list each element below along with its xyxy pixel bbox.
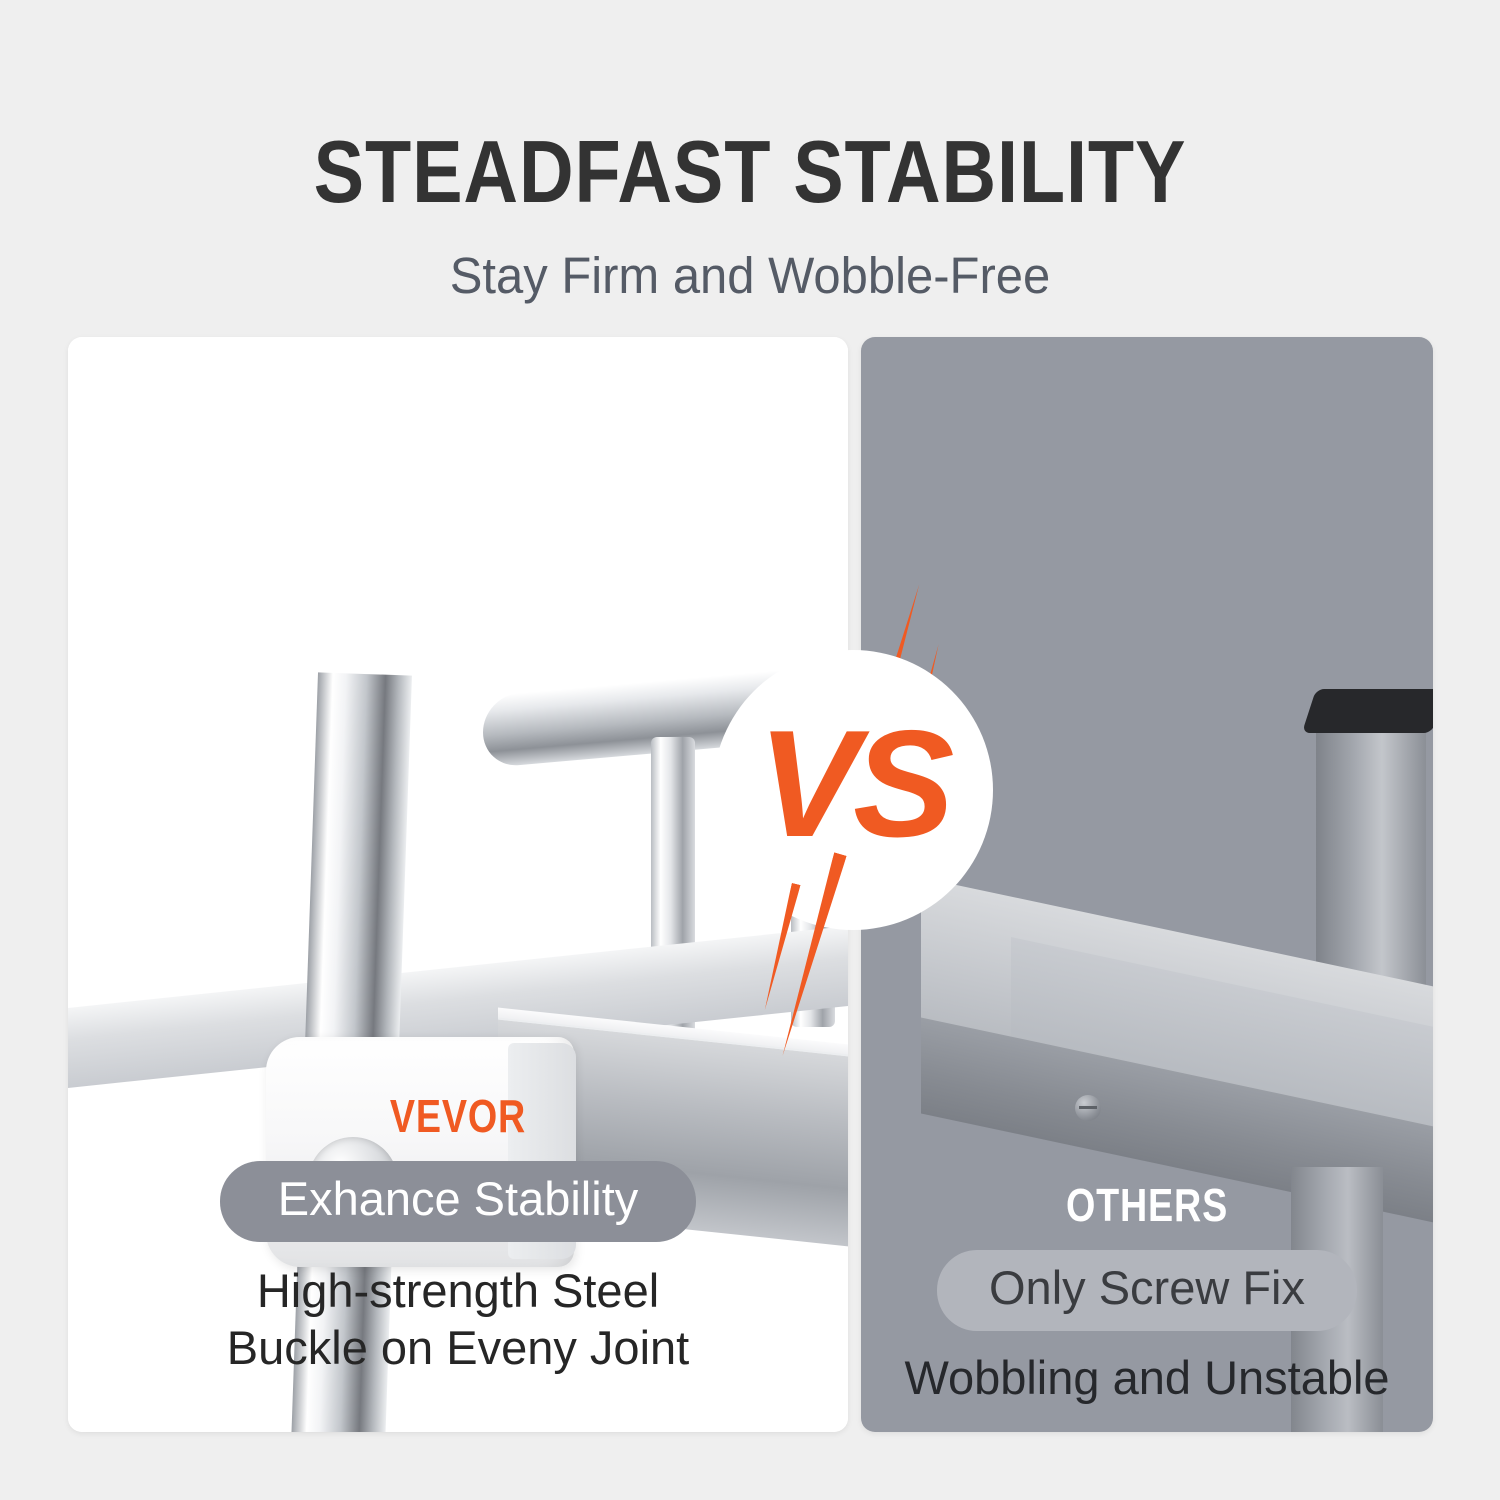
others-description-line-1: Wobbling and Unstable <box>861 1349 1433 1406</box>
others-description: Wobbling and Unstable <box>861 1349 1433 1406</box>
vevor-description-line-1: High-strength Steel <box>68 1262 848 1319</box>
vevor-feature-pill: Exhance Stability <box>220 1161 697 1242</box>
vevor-caption-block: VEVOR Exhance Stability High-strength St… <box>68 1093 848 1376</box>
others-caption-block: OTHERS Only Screw Fix Wobbling and Unsta… <box>861 1182 1433 1406</box>
black-leg-cap <box>1302 689 1433 733</box>
screw-icon <box>1075 1095 1101 1121</box>
vs-badge: VS <box>713 650 993 930</box>
page-subtitle: Stay Firm and Wobble-Free <box>30 248 1470 304</box>
others-title: OTHERS <box>912 1182 1381 1228</box>
vevor-brand-label: VEVOR <box>138 1093 778 1139</box>
vevor-description-line-2: Buckle on Eveny Joint <box>68 1319 848 1376</box>
vs-label: VS <box>713 708 993 860</box>
page-title: STEADFAST STABILITY <box>105 128 1395 216</box>
vevor-description: High-strength Steel Buckle on Eveny Join… <box>68 1262 848 1377</box>
others-feature-pill: Only Screw Fix <box>937 1250 1357 1331</box>
header: STEADFAST STABILITY Stay Firm and Wobble… <box>0 0 1500 337</box>
